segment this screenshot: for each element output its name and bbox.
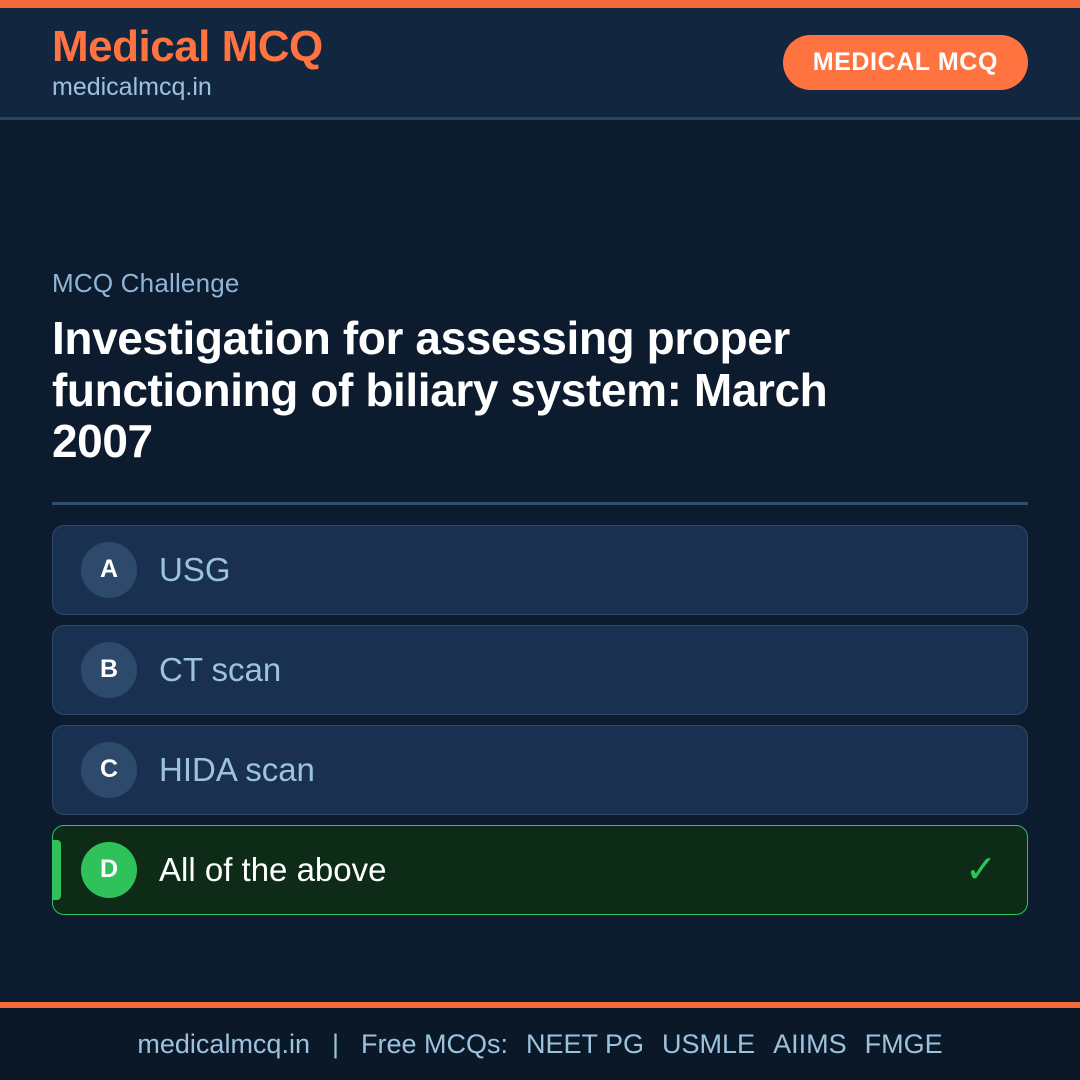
footer-exam-fmge[interactable]: FMGE bbox=[865, 1029, 943, 1060]
page-header: Medical MCQ medicalmcq.in MEDICAL MCQ bbox=[0, 8, 1080, 120]
mcq-card: Medical MCQ medicalmcq.in MEDICAL MCQ MC… bbox=[0, 0, 1080, 1080]
top-accent-bar bbox=[0, 0, 1080, 8]
footer-exam-list: NEET PG USMLE AIIMS FMGE bbox=[526, 1029, 943, 1060]
eyebrow-label: MCQ Challenge bbox=[52, 268, 1028, 299]
option-label: USG bbox=[159, 551, 231, 589]
page-footer: medicalmcq.in | Free MCQs: NEET PG USMLE… bbox=[0, 1008, 1080, 1080]
option-a[interactable]: A USG ✓ bbox=[52, 525, 1028, 615]
option-d[interactable]: D All of the above ✓ bbox=[52, 825, 1028, 915]
option-letter-badge: A bbox=[81, 542, 137, 598]
footer-site[interactable]: medicalmcq.in bbox=[137, 1029, 310, 1060]
options-list: A USG ✓ B CT scan ✓ C HIDA scan ✓ bbox=[52, 525, 1028, 915]
brand: Medical MCQ medicalmcq.in bbox=[52, 25, 323, 100]
header-badge: MEDICAL MCQ bbox=[783, 35, 1028, 90]
option-label: All of the above bbox=[159, 851, 387, 889]
main-content: MCQ Challenge Investigation for assessin… bbox=[0, 120, 1080, 1002]
correct-accent-bar bbox=[53, 840, 61, 900]
option-letter-badge: D bbox=[81, 842, 137, 898]
footer-exam-aiims[interactable]: AIIMS bbox=[773, 1029, 847, 1060]
brand-subtitle: medicalmcq.in bbox=[52, 75, 323, 100]
option-b[interactable]: B CT scan ✓ bbox=[52, 625, 1028, 715]
brand-title: Medical MCQ bbox=[52, 25, 323, 69]
footer-exam-usmle[interactable]: USMLE bbox=[662, 1029, 755, 1060]
question-block: MCQ Challenge Investigation for assessin… bbox=[52, 268, 1028, 468]
footer-exam-neet-pg[interactable]: NEET PG bbox=[526, 1029, 644, 1060]
footer-separator: | bbox=[310, 1029, 361, 1060]
title-divider bbox=[52, 502, 1028, 505]
option-c[interactable]: C HIDA scan ✓ bbox=[52, 725, 1028, 815]
footer-free-label: Free MCQs: bbox=[361, 1029, 508, 1060]
page-title: Investigation for assessing proper funct… bbox=[52, 313, 922, 468]
option-label: CT scan bbox=[159, 651, 281, 689]
check-icon: ✓ bbox=[965, 851, 997, 889]
option-letter-badge: C bbox=[81, 742, 137, 798]
option-label: HIDA scan bbox=[159, 751, 315, 789]
option-letter-badge: B bbox=[81, 642, 137, 698]
